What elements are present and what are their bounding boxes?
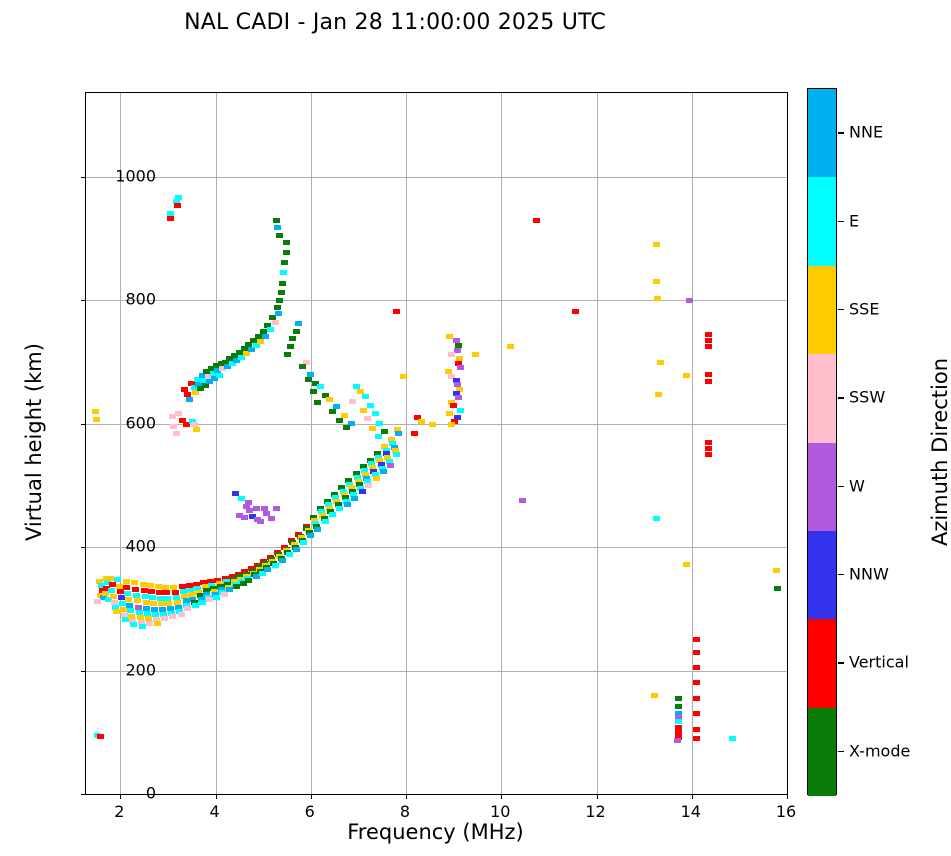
data-point (272, 320, 279, 325)
y-axis-tick-label: 0 (146, 784, 156, 803)
data-point (705, 344, 712, 349)
data-point (329, 512, 336, 517)
gridline-horizontal (86, 177, 787, 178)
data-point (446, 411, 453, 416)
data-point (457, 408, 464, 413)
data-point (693, 711, 700, 716)
data-point (675, 719, 682, 724)
data-point (114, 577, 121, 582)
data-point (278, 290, 285, 295)
gridline-vertical (311, 93, 312, 794)
gridline-horizontal (86, 300, 787, 301)
colorbar-tick (838, 309, 844, 310)
data-point (280, 270, 287, 275)
data-point (359, 489, 366, 494)
data-point (141, 588, 148, 593)
data-point (116, 584, 123, 589)
data-point (651, 693, 658, 698)
colorbar-label-e: E (849, 211, 859, 230)
data-point (170, 424, 177, 429)
data-point (245, 500, 252, 505)
data-point (108, 588, 115, 593)
colorbar-tick (838, 662, 844, 663)
data-point (276, 233, 283, 238)
y-axis-label: Virtual height (km) (22, 302, 46, 582)
data-point (276, 298, 283, 303)
colorbar-label-nnw: NNW (849, 565, 889, 584)
data-point (131, 580, 138, 585)
x-axis-tick-label: 6 (305, 802, 315, 821)
data-point (693, 637, 700, 642)
data-point (169, 614, 176, 619)
data-point (149, 595, 156, 600)
data-point (130, 622, 137, 627)
data-point (693, 650, 700, 655)
data-point (376, 421, 383, 426)
colorbar-label-vertical: Vertical (849, 653, 909, 672)
data-point (705, 338, 712, 343)
data-point (317, 384, 324, 389)
data-point (653, 516, 660, 521)
page-title: NAL CADI - Jan 28 11:00:00 2025 UTC (0, 10, 790, 35)
colorbar-segment-vertical[interactable] (808, 619, 836, 707)
data-point (305, 377, 312, 382)
data-point (472, 352, 479, 357)
y-axis-tick (81, 794, 86, 795)
data-point (248, 347, 255, 352)
data-point (393, 309, 400, 314)
data-point (387, 463, 394, 468)
y-axis-tick-label: 800 (125, 290, 156, 309)
data-point (257, 519, 264, 524)
data-point (686, 298, 693, 303)
data-point (448, 422, 455, 427)
colorbar-tick (838, 751, 844, 752)
data-point (139, 624, 146, 629)
data-point (226, 587, 233, 592)
data-point (322, 519, 329, 524)
data-point (93, 417, 100, 422)
data-point (221, 592, 228, 597)
data-point (693, 680, 700, 685)
data-point (213, 595, 220, 600)
data-point (344, 502, 351, 507)
data-point (142, 594, 149, 599)
data-point (97, 734, 104, 739)
gridline-horizontal (86, 671, 787, 672)
data-point (174, 203, 181, 208)
x-axis-tick (406, 794, 407, 799)
data-point (241, 515, 248, 520)
data-point (400, 374, 407, 379)
data-point (107, 576, 114, 581)
data-point (245, 578, 252, 583)
data-point (375, 434, 382, 439)
colorbar-segment-w[interactable] (808, 443, 836, 531)
gridline-vertical (597, 93, 598, 794)
data-point (119, 601, 126, 606)
colorbar-label-sse: SSE (849, 299, 879, 318)
gridline-vertical (692, 93, 693, 794)
colorbar-segment-x-mode[interactable] (808, 708, 836, 796)
data-point (773, 568, 780, 573)
data-point (281, 260, 288, 265)
data-point (275, 311, 282, 316)
data-point (418, 419, 425, 424)
data-point (365, 483, 372, 488)
data-point (161, 616, 168, 621)
x-axis-tick (501, 794, 502, 799)
data-point (133, 593, 140, 598)
colorbar-tick (838, 486, 844, 487)
data-point (193, 427, 200, 432)
data-point (705, 440, 712, 445)
data-point (675, 704, 682, 709)
data-point (369, 426, 376, 431)
data-point (238, 496, 245, 501)
data-point (693, 665, 700, 670)
data-point (120, 607, 127, 612)
data-point (310, 389, 317, 394)
colorbar-label-nne: NNE (849, 123, 883, 142)
data-point (253, 343, 260, 348)
data-point (123, 579, 130, 584)
data-point (364, 416, 371, 421)
data-point (314, 527, 321, 532)
data-point (693, 727, 700, 732)
y-axis-tick (81, 671, 86, 672)
data-point (156, 590, 163, 595)
data-point (381, 429, 388, 434)
gridline-vertical (406, 93, 407, 794)
y-axis-tick-label: 200 (125, 660, 156, 679)
y-axis-tick-label: 600 (125, 413, 156, 432)
data-point (143, 600, 150, 605)
data-point (132, 587, 139, 592)
data-point (134, 598, 141, 603)
x-axis-tick-label: 8 (400, 802, 410, 821)
data-point (143, 606, 150, 611)
data-point (262, 334, 269, 339)
data-point (307, 533, 314, 538)
data-point (164, 596, 171, 601)
data-point (329, 409, 336, 414)
data-point (289, 336, 296, 341)
data-point (314, 400, 321, 405)
data-point (273, 506, 280, 511)
data-point (654, 296, 661, 301)
data-point (184, 606, 191, 611)
data-point (293, 329, 300, 334)
data-point (157, 596, 164, 601)
colorbar-tick (838, 132, 844, 133)
y-axis-tick (81, 177, 86, 178)
data-point (175, 195, 182, 200)
data-point (123, 585, 130, 590)
y-axis-tick (81, 300, 86, 301)
data-point (117, 589, 124, 594)
plot-frame (85, 92, 788, 795)
data-point (372, 411, 379, 416)
data-point (705, 332, 712, 337)
data-point (118, 595, 125, 600)
gridline-vertical (120, 93, 121, 794)
data-point (253, 506, 260, 511)
data-point (279, 558, 286, 563)
colorbar-label-ssw: SSW (849, 388, 885, 407)
x-axis-label: Frequency (MHz) (85, 820, 786, 844)
data-point (283, 240, 290, 245)
data-point (135, 605, 142, 610)
data-point (92, 409, 99, 414)
data-point (360, 408, 367, 413)
data-point (286, 552, 293, 557)
data-point (683, 373, 690, 378)
data-point (279, 281, 286, 286)
data-point (362, 394, 369, 399)
data-point (300, 540, 307, 545)
data-point (272, 563, 279, 568)
data-point (655, 392, 662, 397)
data-point (162, 585, 169, 590)
colorbar-segment-sse[interactable] (808, 266, 836, 354)
data-point (268, 516, 275, 521)
data-point (299, 364, 306, 369)
data-point (454, 348, 461, 353)
data-point (216, 373, 223, 378)
data-point (705, 446, 712, 451)
data-point (675, 696, 682, 701)
y-axis-tick (81, 424, 86, 425)
colorbar-tick (838, 397, 844, 398)
data-point (455, 395, 462, 400)
y-axis-tick (81, 547, 86, 548)
data-point (674, 738, 681, 743)
data-point (94, 599, 101, 604)
colorbar[interactable] (807, 88, 837, 795)
data-point (336, 418, 343, 423)
data-point (158, 601, 165, 606)
data-point (267, 327, 274, 332)
data-point (343, 425, 350, 430)
data-point (393, 452, 400, 457)
data-point (199, 600, 206, 605)
data-point (186, 397, 193, 402)
data-point (154, 621, 161, 626)
x-axis-tick (120, 794, 121, 799)
data-point (150, 601, 157, 606)
colorbar-tick (838, 574, 844, 575)
y-axis-tick-label: 400 (125, 537, 156, 556)
data-point (167, 216, 174, 221)
data-point (163, 590, 170, 595)
data-point (295, 321, 302, 326)
data-point (774, 586, 781, 591)
data-point (284, 352, 291, 357)
gridline-vertical (216, 93, 217, 794)
data-point (705, 379, 712, 384)
colorbar-label-w: W (849, 476, 865, 495)
y-axis-tick-label: 1000 (115, 166, 156, 185)
x-axis-tick (216, 794, 217, 799)
data-point (373, 476, 380, 481)
colorbar-segment-nnw[interactable] (808, 531, 836, 619)
data-point (148, 589, 155, 594)
data-point (175, 411, 182, 416)
data-point (274, 225, 281, 230)
x-axis-tick-label: 16 (776, 802, 796, 821)
colorbar-segment-e[interactable] (808, 177, 836, 265)
data-point (653, 242, 660, 247)
data-point (124, 591, 131, 596)
colorbar-title: Azimuth Direction (928, 302, 951, 602)
data-point (507, 344, 514, 349)
data-point (274, 305, 281, 310)
x-axis-tick-label: 2 (114, 802, 124, 821)
data-point (293, 547, 300, 552)
gridline-horizontal (86, 547, 787, 548)
data-point (429, 422, 436, 427)
data-point (140, 582, 147, 587)
data-point (729, 736, 736, 741)
x-axis-tick (692, 794, 693, 799)
data-point (380, 469, 387, 474)
data-point (273, 218, 280, 223)
data-point (155, 584, 162, 589)
data-point (127, 608, 134, 613)
x-axis-tick-label: 14 (681, 802, 701, 821)
data-point (367, 403, 374, 408)
colorbar-label-x-mode: X-mode (849, 741, 910, 760)
data-point (351, 496, 358, 501)
x-axis-tick (597, 794, 598, 799)
gridline-vertical (501, 93, 502, 794)
data-point (653, 279, 660, 284)
data-point (125, 597, 132, 602)
x-axis-tick-label: 12 (585, 802, 605, 821)
data-point (533, 218, 540, 223)
x-axis-tick (311, 794, 312, 799)
data-point (448, 352, 455, 357)
data-point (349, 399, 356, 404)
data-point (395, 431, 402, 436)
data-point (110, 594, 117, 599)
plot-area (86, 93, 787, 794)
data-point (257, 339, 264, 344)
data-point (283, 250, 290, 255)
colorbar-tick (838, 221, 844, 222)
data-point (572, 309, 579, 314)
data-point (411, 431, 418, 436)
data-point (126, 603, 133, 608)
data-point (657, 360, 664, 365)
data-point (693, 696, 700, 701)
x-axis-tick-label: 4 (209, 802, 219, 821)
data-point (173, 431, 180, 436)
x-axis-tick (787, 794, 788, 799)
data-point (683, 562, 690, 567)
data-point (705, 372, 712, 377)
data-point (457, 365, 464, 370)
x-axis-tick-label: 10 (490, 802, 510, 821)
ionogram-page: NAL CADI - Jan 28 11:00:00 2025 UTC 2468… (0, 0, 951, 856)
colorbar-segment-nne[interactable] (808, 89, 836, 177)
data-point (178, 612, 185, 617)
data-point (705, 452, 712, 457)
data-point (336, 506, 343, 511)
data-point (287, 344, 294, 349)
data-point (147, 583, 154, 588)
data-point (326, 397, 333, 402)
data-point (264, 567, 271, 572)
data-point (693, 736, 700, 741)
data-point (519, 498, 526, 503)
colorbar-segment-ssw[interactable] (808, 354, 836, 442)
